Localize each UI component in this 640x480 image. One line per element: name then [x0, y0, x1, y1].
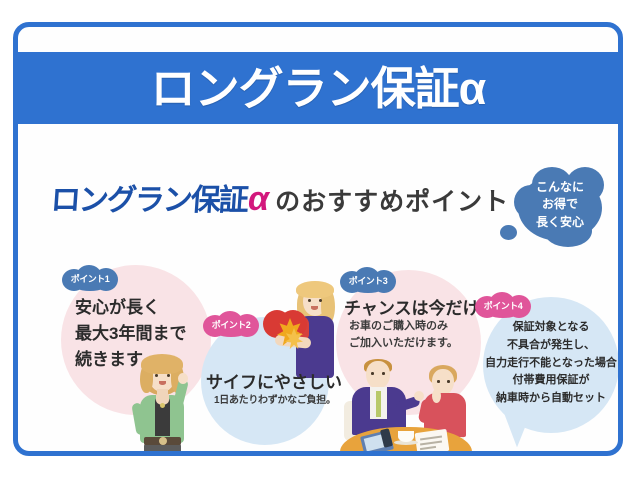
- point-2-badge: ポイント2: [203, 311, 259, 337]
- point-4-text: 保証対象となる 不具合が発生し、 自力走行不能となった場合 付帯費用保証が 納車…: [483, 319, 619, 408]
- subheadline-rest: のおすすめポイント: [275, 182, 509, 218]
- mouth: [311, 306, 318, 310]
- point-4-line-4: 付帯費用保証が: [483, 372, 619, 390]
- point-2-heading: サイフにやさしい: [206, 368, 342, 393]
- point-2-badge-label: ポイント2: [203, 318, 259, 331]
- point-3-badge: ポイント3: [340, 267, 396, 293]
- eye: [447, 380, 450, 383]
- point-4-badge-label: ポイント4: [475, 299, 531, 312]
- face: [366, 361, 390, 389]
- eye: [155, 374, 158, 377]
- hand: [432, 389, 441, 403]
- corner-bubble-text: こんなに お得で 長く安心: [514, 179, 606, 231]
- eye: [382, 372, 385, 375]
- eye: [319, 299, 322, 302]
- point-3-heading: チャンスは今だけ: [344, 294, 480, 319]
- point-4-line-1: 保証対象となる: [483, 319, 619, 337]
- corner-bubble-line-1: こんなに: [514, 179, 606, 196]
- mouth: [159, 381, 166, 385]
- point-1-badge: ポイント1: [62, 265, 118, 291]
- eye: [437, 380, 440, 383]
- subheadline: ロングラン保証 α のおすすめポイント: [51, 175, 509, 219]
- subheadline-alpha: α: [248, 180, 268, 219]
- ad-card-frame: ロングラン保証α ロングラン保証 α のおすすめポイント こんなに お得で 長く…: [13, 22, 623, 456]
- point-1-badge-label: ポイント1: [62, 272, 118, 285]
- eye: [308, 299, 311, 302]
- point-2-subtext: 1日あたりわずかなご負担。: [214, 391, 336, 406]
- point-1-heading-line-3: 続きます: [75, 347, 186, 373]
- point-1-heading: 安心が長く 最大3年間まで 続きます: [75, 295, 186, 372]
- corner-bubble-line-2: お得で: [514, 196, 606, 213]
- necktie: [376, 391, 381, 417]
- point-4-line-2: 不具合が発生し、: [483, 337, 619, 355]
- subheadline-brand: ロングラン保証: [49, 175, 248, 219]
- eye: [371, 372, 374, 375]
- woman-purple-heart-illustration: [263, 282, 341, 382]
- corner-bubble-line-3: 長く安心: [514, 214, 606, 231]
- point-3-badge-label: ポイント3: [340, 274, 396, 287]
- point-3-subtext-line-1: お車のご購入時のみ: [349, 318, 458, 335]
- page-title: ロングラン保証α: [151, 66, 486, 111]
- raised-hand: [178, 373, 188, 384]
- two-people-at-table-illustration: [340, 359, 472, 456]
- eye: [167, 374, 170, 377]
- belt-buckle: [159, 437, 167, 445]
- point-1-heading-line-2: 最大3年間まで: [75, 321, 186, 347]
- point-4-line-3: 自力走行不能となった場合: [483, 355, 619, 373]
- point-4-badge: ポイント4: [475, 292, 531, 318]
- corner-speech-bubble: こんなに お得で 長く安心: [514, 167, 606, 245]
- coffee-cup: [398, 431, 414, 442]
- advertisement-root: ロングラン保証α ロングラン保証 α のおすすめポイント こんなに お得で 長く…: [0, 0, 640, 480]
- point-1-heading-line-1: 安心が長く: [75, 295, 186, 321]
- necklace: [160, 403, 165, 408]
- point-3-subtext: お車のご購入時のみ ご加入いただけます。: [349, 318, 458, 352]
- point-4-line-5: 納車時から自動セット: [483, 390, 619, 408]
- point-3-subtext-line-2: ご加入いただけます。: [349, 335, 458, 352]
- header-banner: ロングラン保証α: [18, 52, 618, 124]
- hair-fringe: [296, 281, 334, 298]
